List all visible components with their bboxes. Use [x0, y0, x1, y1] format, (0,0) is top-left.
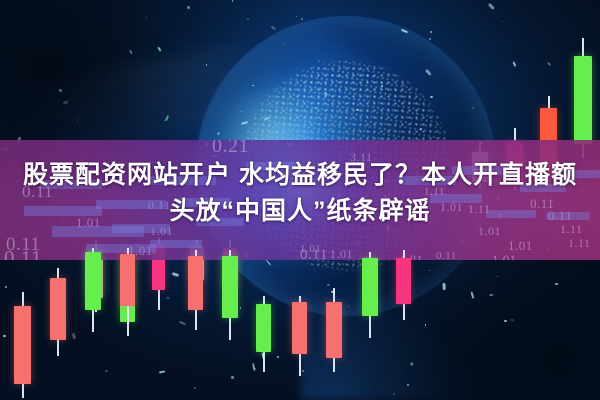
candlestick-body: [396, 258, 411, 304]
candlestick-body: [326, 302, 342, 358]
particle: [420, 128, 422, 130]
particle: [489, 294, 494, 296]
particle: [146, 17, 147, 18]
particle: [416, 112, 418, 114]
particle: [497, 276, 498, 277]
candlestick-body: [188, 256, 203, 310]
particle: [105, 370, 108, 373]
candlestick-body: [50, 278, 66, 340]
candlestick: [292, 0, 307, 400]
price-number: 1.11: [568, 236, 591, 251]
particle: [318, 60, 320, 62]
candlestick-body: [85, 252, 101, 310]
particle: [314, 107, 316, 109]
particle: [488, 3, 495, 10]
candlestick-body: [292, 302, 307, 354]
particle: [5, 286, 7, 288]
candlestick-body: [14, 306, 31, 384]
particle: [247, 18, 249, 20]
particle: [172, 272, 179, 277]
particle: [348, 306, 349, 307]
particle: [430, 31, 432, 33]
candlestick-body: [222, 256, 238, 318]
particle: [77, 119, 79, 121]
candlestick: [85, 0, 101, 400]
candlestick-body: [574, 56, 592, 144]
particle: [179, 321, 186, 326]
particle: [430, 96, 433, 99]
particle: [252, 85, 254, 87]
article-cover-image: 0.110.110.111.011.011.010.110.110.213.11…: [0, 0, 600, 400]
particle: [166, 296, 171, 299]
candlestick: [120, 0, 135, 400]
particle: [240, 307, 242, 309]
particle: [393, 393, 395, 395]
candlestick: [326, 0, 342, 400]
candlestick-body: [120, 254, 135, 306]
particle: [206, 64, 208, 66]
particle: [277, 356, 279, 358]
candlestick: [362, 0, 378, 400]
particle: [443, 283, 446, 290]
particle: [241, 121, 248, 124]
particle: [429, 38, 430, 39]
particle: [284, 44, 285, 45]
particle: [3, 335, 6, 338]
candlestick: [188, 0, 203, 400]
particle: [164, 115, 169, 121]
price-number: 0.11: [436, 250, 457, 260]
particle: [356, 109, 358, 111]
candlestick: [222, 0, 238, 400]
candlestick: [14, 0, 31, 400]
candlestick: [256, 0, 271, 400]
particle: [425, 324, 427, 326]
particle: [217, 132, 220, 135]
particle: [241, 111, 242, 112]
candlestick-body: [256, 304, 271, 352]
candlestick-body: [362, 258, 378, 316]
particle: [502, 21, 503, 22]
particle: [72, 333, 76, 340]
particle: [425, 69, 432, 76]
particle: [429, 270, 430, 271]
candlestick: [396, 0, 411, 400]
particle: [381, 85, 383, 87]
candlestick: [50, 0, 66, 400]
price-number: 1.01: [492, 252, 517, 260]
particle: [271, 25, 276, 30]
